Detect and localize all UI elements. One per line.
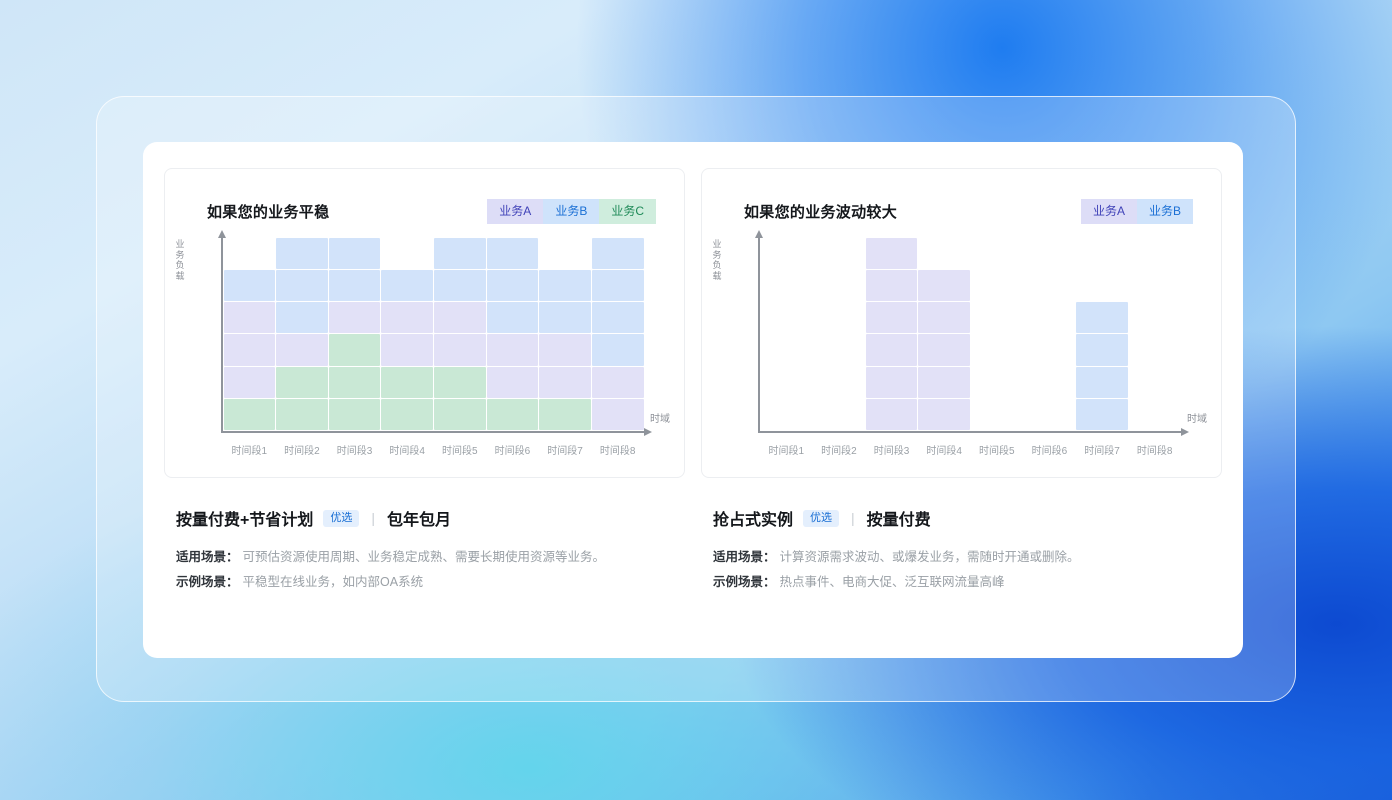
- bar-cell-a: [487, 367, 539, 398]
- bar-cell-empty: [761, 238, 813, 269]
- panel-steady-business: 如果您的业务平稳 业务A 业务B 业务C 业务负载 时域 时间段1时间段2时间段…: [164, 168, 685, 632]
- bar-column: [1076, 237, 1129, 431]
- chart-legend-right: 业务A 业务B: [1081, 199, 1193, 224]
- bar-cell-a: [918, 367, 970, 398]
- y-axis-label-right: 业务负载: [710, 239, 724, 281]
- plot-area-right: 业务负载 时域 时间段1时间段2时间段3时间段4时间段5时间段6时间段7时间段8: [744, 235, 1203, 459]
- x-tick-label: 时间段2: [276, 442, 329, 457]
- bar-cell-a: [224, 334, 276, 365]
- bar-cell-empty: [1129, 238, 1181, 269]
- bar-cell-b: [434, 238, 486, 269]
- x-tick-label: 时间段7: [1076, 442, 1129, 457]
- bar-cell-b: [592, 270, 644, 301]
- bar-cell-a: [487, 334, 539, 365]
- x-tick-label: 时间段6: [486, 442, 539, 457]
- bar-cell-c: [381, 367, 433, 398]
- bar-column: [760, 237, 813, 431]
- bar-cell-empty: [971, 238, 1023, 269]
- bar-cell-a: [276, 334, 328, 365]
- bar-cell-a: [866, 270, 918, 301]
- bar-cell-empty: [1129, 399, 1181, 430]
- bar-cell-empty: [1024, 399, 1076, 430]
- bar-cell-c: [434, 367, 486, 398]
- chart-card-left: 如果您的业务平稳 业务A 业务B 业务C 业务负载 时域 时间段1时间段2时间段…: [164, 168, 685, 478]
- bar-column: [539, 237, 592, 431]
- bar-cell-b: [1076, 367, 1128, 398]
- bar-column: [434, 237, 487, 431]
- bar-column: [813, 237, 866, 431]
- bar-cell-empty: [224, 238, 276, 269]
- bar-cell-empty: [1129, 302, 1181, 333]
- bar-cell-a: [224, 367, 276, 398]
- x-tick-label: 时间段3: [865, 442, 918, 457]
- bar-cell-empty: [1024, 270, 1076, 301]
- bar-cell-b: [487, 238, 539, 269]
- bar-cell-empty: [761, 334, 813, 365]
- info-title-right: 抢占式实例: [713, 506, 793, 530]
- x-axis-label-left: 时域: [650, 410, 670, 425]
- info-row: 适用场景： 可预估资源使用周期、业务稳定成熟、需要长期使用资源等业务。: [176, 546, 675, 568]
- x-axis-line-left: [221, 431, 644, 433]
- x-axis-ticks-left: 时间段1时间段2时间段3时间段4时间段5时间段6时间段7时间段8: [223, 442, 644, 457]
- info-title-left: 按量付费+节省计划: [176, 506, 313, 530]
- plot-area-left: 业务负载 时域 时间段1时间段2时间段3时间段4时间段5时间段6时间段7时间段8: [207, 235, 666, 459]
- bar-cell-empty: [1076, 238, 1128, 269]
- x-tick-label: 时间段8: [591, 442, 644, 457]
- bar-column: [1128, 237, 1181, 431]
- x-tick-label: 时间段4: [381, 442, 434, 457]
- bar-cell-empty: [918, 238, 970, 269]
- info-row-value: 计算资源需求波动、或爆发业务，需随时开通或删除。: [776, 546, 1080, 568]
- bar-cell-c: [224, 399, 276, 430]
- bar-cell-a: [866, 367, 918, 398]
- bar-cell-b: [276, 302, 328, 333]
- bar-cell-empty: [761, 367, 813, 398]
- info-row-key: 示例场景：: [176, 571, 239, 593]
- bar-cell-b: [329, 238, 381, 269]
- bar-cell-c: [276, 399, 328, 430]
- bar-cell-c: [434, 399, 486, 430]
- bar-cell-a: [539, 367, 591, 398]
- bar-cell-a: [381, 334, 433, 365]
- x-axis-label-right: 时域: [1187, 410, 1207, 425]
- x-tick-label: 时间段4: [918, 442, 971, 457]
- x-axis-ticks-right: 时间段1时间段2时间段3时间段4时间段5时间段6时间段7时间段8: [760, 442, 1181, 457]
- bar-cell-empty: [1024, 238, 1076, 269]
- bar-cell-empty: [1129, 367, 1181, 398]
- info-separator-left: |: [369, 510, 377, 526]
- bar-cell-b: [487, 302, 539, 333]
- panels-container: 如果您的业务平稳 业务A 业务B 业务C 业务负载 时域 时间段1时间段2时间段…: [143, 142, 1243, 658]
- info-header-left: 按量付费+节省计划 优选 | 包年包月: [176, 506, 675, 530]
- legend-item-b-right[interactable]: 业务B: [1137, 199, 1193, 224]
- bar-column: [591, 237, 644, 431]
- chart-header-left: 如果您的业务平稳 业务A 业务B 业务C: [165, 169, 684, 224]
- info-row-value: 热点事件、电商大促、泛互联网流量高峰: [776, 571, 1005, 593]
- bar-cell-a: [866, 238, 918, 269]
- bar-cell-empty: [813, 399, 865, 430]
- info-rows-right: 适用场景： 计算资源需求波动、或爆发业务，需随时开通或删除。 示例场景： 热点事…: [713, 546, 1212, 593]
- legend-item-a-right[interactable]: 业务A: [1081, 199, 1137, 224]
- bar-cell-empty: [1129, 334, 1181, 365]
- bar-cell-b: [592, 238, 644, 269]
- bar-cell-b: [592, 334, 644, 365]
- bar-column: [918, 237, 971, 431]
- bar-cell-c: [539, 399, 591, 430]
- chart-title-left: 如果您的业务平稳: [207, 201, 329, 222]
- bar-cell-empty: [813, 238, 865, 269]
- bar-cell-a: [918, 302, 970, 333]
- bar-cell-c: [329, 334, 381, 365]
- info-row-key: 示例场景：: [713, 571, 776, 593]
- preferred-badge-left: 优选: [323, 510, 359, 527]
- x-tick-label: 时间段2: [813, 442, 866, 457]
- bar-cell-a: [592, 367, 644, 398]
- bar-cell-empty: [761, 302, 813, 333]
- bar-cell-a: [224, 302, 276, 333]
- bar-cell-a: [866, 334, 918, 365]
- chart-card-right: 如果您的业务波动较大 业务A 业务B 业务负载 时域 时间段1时间段2时间段3时…: [701, 168, 1222, 478]
- bar-cell-b: [381, 270, 433, 301]
- bar-cell-a: [918, 270, 970, 301]
- x-tick-label: 时间段8: [1128, 442, 1181, 457]
- info-row-value: 可预估资源使用周期、业务稳定成熟、需要长期使用资源等业务。: [239, 546, 606, 568]
- bar-cell-empty: [1024, 302, 1076, 333]
- bar-cell-c: [276, 367, 328, 398]
- bar-cell-empty: [1129, 270, 1181, 301]
- bar-cell-a: [918, 399, 970, 430]
- bar-cell-empty: [1024, 367, 1076, 398]
- bar-cell-b: [487, 270, 539, 301]
- info-rows-left: 适用场景： 可预估资源使用周期、业务稳定成熟、需要长期使用资源等业务。 示例场景…: [176, 546, 675, 593]
- chart-header-right: 如果您的业务波动较大 业务A 业务B: [702, 169, 1221, 224]
- chart-legend-left: 业务A 业务B 业务C: [487, 199, 656, 224]
- info-row: 适用场景： 计算资源需求波动、或爆发业务，需随时开通或删除。: [713, 546, 1212, 568]
- bar-column: [223, 237, 276, 431]
- bar-cell-b: [276, 238, 328, 269]
- x-tick-label: 时间段7: [539, 442, 592, 457]
- bar-cell-empty: [761, 270, 813, 301]
- bar-cell-b: [276, 270, 328, 301]
- bar-cell-empty: [1024, 334, 1076, 365]
- stacked-bar-grid-right: [760, 237, 1181, 431]
- chart-title-right: 如果您的业务波动较大: [744, 201, 897, 222]
- bar-cell-empty: [813, 367, 865, 398]
- legend-item-a-left[interactable]: 业务A: [487, 199, 543, 224]
- x-tick-label: 时间段5: [971, 442, 1024, 457]
- bar-cell-empty: [971, 367, 1023, 398]
- bar-cell-b: [539, 302, 591, 333]
- bar-cell-c: [329, 367, 381, 398]
- info-subtitle-right: 按量付费: [867, 506, 931, 530]
- bar-column: [1023, 237, 1076, 431]
- bar-cell-b: [1076, 399, 1128, 430]
- bar-cell-c: [487, 399, 539, 430]
- info-row-key: 适用场景：: [713, 546, 776, 568]
- bar-cell-b: [434, 270, 486, 301]
- info-row-value: 平稳型在线业务，如内部OA系统: [239, 571, 424, 593]
- info-block-left: 按量付费+节省计划 优选 | 包年包月 适用场景： 可预估资源使用周期、业务稳定…: [164, 478, 685, 596]
- bar-cell-b: [329, 270, 381, 301]
- bar-column: [971, 237, 1024, 431]
- bar-column: [328, 237, 381, 431]
- bar-cell-a: [539, 334, 591, 365]
- bar-cell-a: [918, 334, 970, 365]
- bar-column: [276, 237, 329, 431]
- bar-cell-empty: [381, 238, 433, 269]
- x-tick-label: 时间段1: [760, 442, 813, 457]
- bar-cell-b: [592, 302, 644, 333]
- legend-item-c-left[interactable]: 业务C: [599, 199, 656, 224]
- bar-cell-c: [381, 399, 433, 430]
- info-separator-right: |: [849, 510, 857, 526]
- y-axis-label-left: 业务负载: [173, 239, 187, 281]
- x-axis-line-right: [758, 431, 1181, 433]
- bar-cell-b: [1076, 334, 1128, 365]
- bar-cell-a: [381, 302, 433, 333]
- bar-cell-b: [539, 270, 591, 301]
- bar-cell-empty: [761, 399, 813, 430]
- panel-volatile-business: 如果您的业务波动较大 业务A 业务B 业务负载 时域 时间段1时间段2时间段3时…: [701, 168, 1222, 632]
- bar-column: [381, 237, 434, 431]
- bar-cell-c: [329, 399, 381, 430]
- bar-cell-empty: [539, 238, 591, 269]
- bar-cell-b: [1076, 302, 1128, 333]
- bar-cell-empty: [971, 302, 1023, 333]
- bar-cell-empty: [813, 270, 865, 301]
- preferred-badge-right: 优选: [803, 510, 839, 527]
- info-subtitle-left: 包年包月: [387, 506, 451, 530]
- bar-cell-a: [434, 302, 486, 333]
- x-tick-label: 时间段6: [1023, 442, 1076, 457]
- bar-cell-a: [592, 399, 644, 430]
- info-row: 示例场景： 平稳型在线业务，如内部OA系统: [176, 571, 675, 593]
- bar-cell-a: [329, 302, 381, 333]
- bar-cell-b: [224, 270, 276, 301]
- bar-cell-empty: [813, 334, 865, 365]
- bar-cell-a: [434, 334, 486, 365]
- info-row: 示例场景： 热点事件、电商大促、泛互联网流量高峰: [713, 571, 1212, 593]
- bar-cell-a: [866, 302, 918, 333]
- bar-column: [865, 237, 918, 431]
- bar-cell-empty: [1076, 270, 1128, 301]
- bar-cell-empty: [971, 399, 1023, 430]
- info-row-key: 适用场景：: [176, 546, 239, 568]
- x-tick-label: 时间段5: [434, 442, 487, 457]
- x-tick-label: 时间段3: [328, 442, 381, 457]
- info-header-right: 抢占式实例 优选 | 按量付费: [713, 506, 1212, 530]
- bar-cell-empty: [971, 334, 1023, 365]
- bar-cell-empty: [971, 270, 1023, 301]
- bar-cell-empty: [813, 302, 865, 333]
- legend-item-b-left[interactable]: 业务B: [543, 199, 599, 224]
- x-tick-label: 时间段1: [223, 442, 276, 457]
- bar-column: [486, 237, 539, 431]
- stacked-bar-grid-left: [223, 237, 644, 431]
- content-card: 如果您的业务平稳 业务A 业务B 业务C 业务负载 时域 时间段1时间段2时间段…: [143, 142, 1243, 658]
- bar-cell-a: [866, 399, 918, 430]
- info-block-right: 抢占式实例 优选 | 按量付费 适用场景： 计算资源需求波动、或爆发业务，需随时…: [701, 478, 1222, 596]
